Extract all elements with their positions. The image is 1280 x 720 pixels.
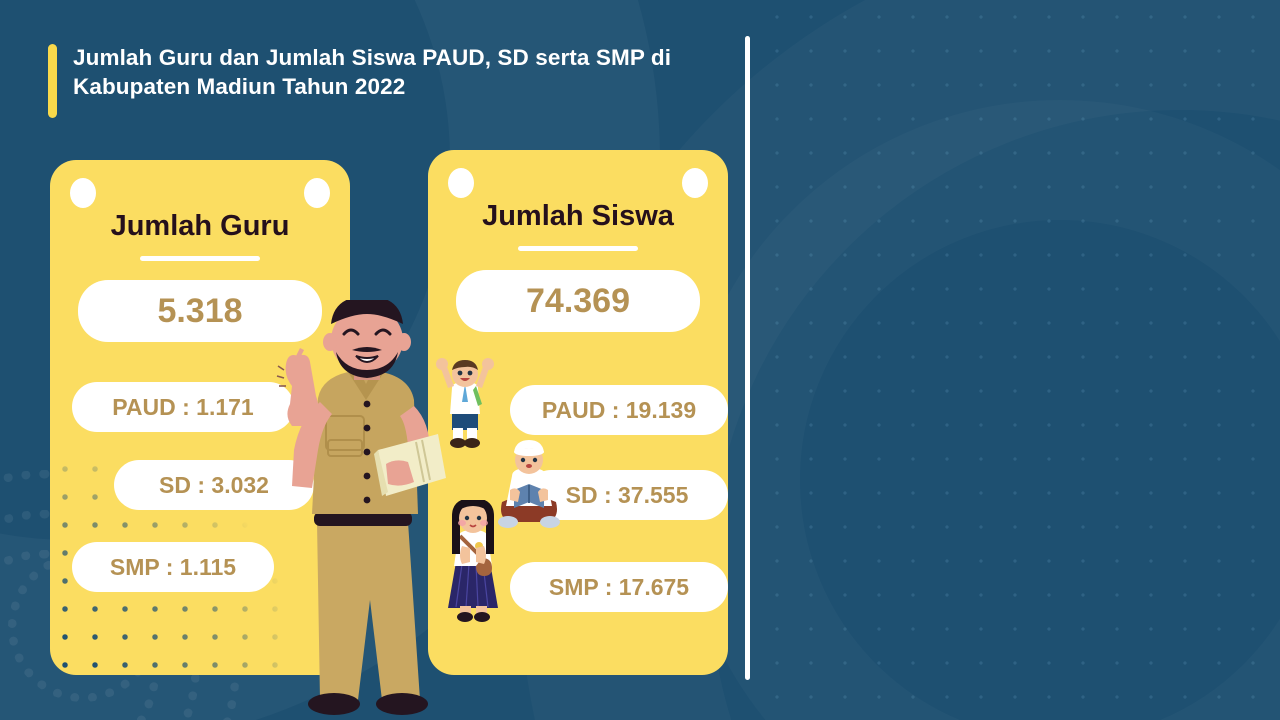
left-panel-title: Jumlah Guru dan Jumlah Siswa PAUD, SD se… [48,44,708,118]
card-siswa-title: Jumlah Siswa [428,200,728,233]
title-accent-bar [48,44,57,118]
punch-hole-right-icon [304,178,330,208]
card-siswa-smp: SMP : 17.675 [510,562,728,612]
punch-hole-left-icon [70,178,96,208]
right-panel: Jumlah Guru dan Jumlah Siswa jenjang pen… [748,0,1280,720]
punch-hole-left-icon [448,168,474,198]
card-guru-smp: SMP : 1.115 [72,542,274,592]
left-panel: Jumlah Guru dan Jumlah Siswa PAUD, SD se… [0,0,748,720]
card-siswa-total: 74.369 [456,270,700,332]
punch-hole-right-icon [682,168,708,198]
student-cheering-icon [432,358,498,450]
card-guru-title: Jumlah Guru [50,210,350,243]
card-siswa-paud: PAUD : 19.139 [510,385,728,435]
left-title-text: Jumlah Guru dan Jumlah Siswa PAUD, SD se… [73,44,708,118]
card-siswa-rule [518,246,638,251]
infographic-canvas: Jumlah Guru dan Jumlah Siswa PAUD, SD se… [0,0,1280,720]
card-guru-paud: PAUD : 1.171 [72,382,294,432]
student-girl-icon [442,500,504,622]
card-guru-rule [140,256,260,261]
